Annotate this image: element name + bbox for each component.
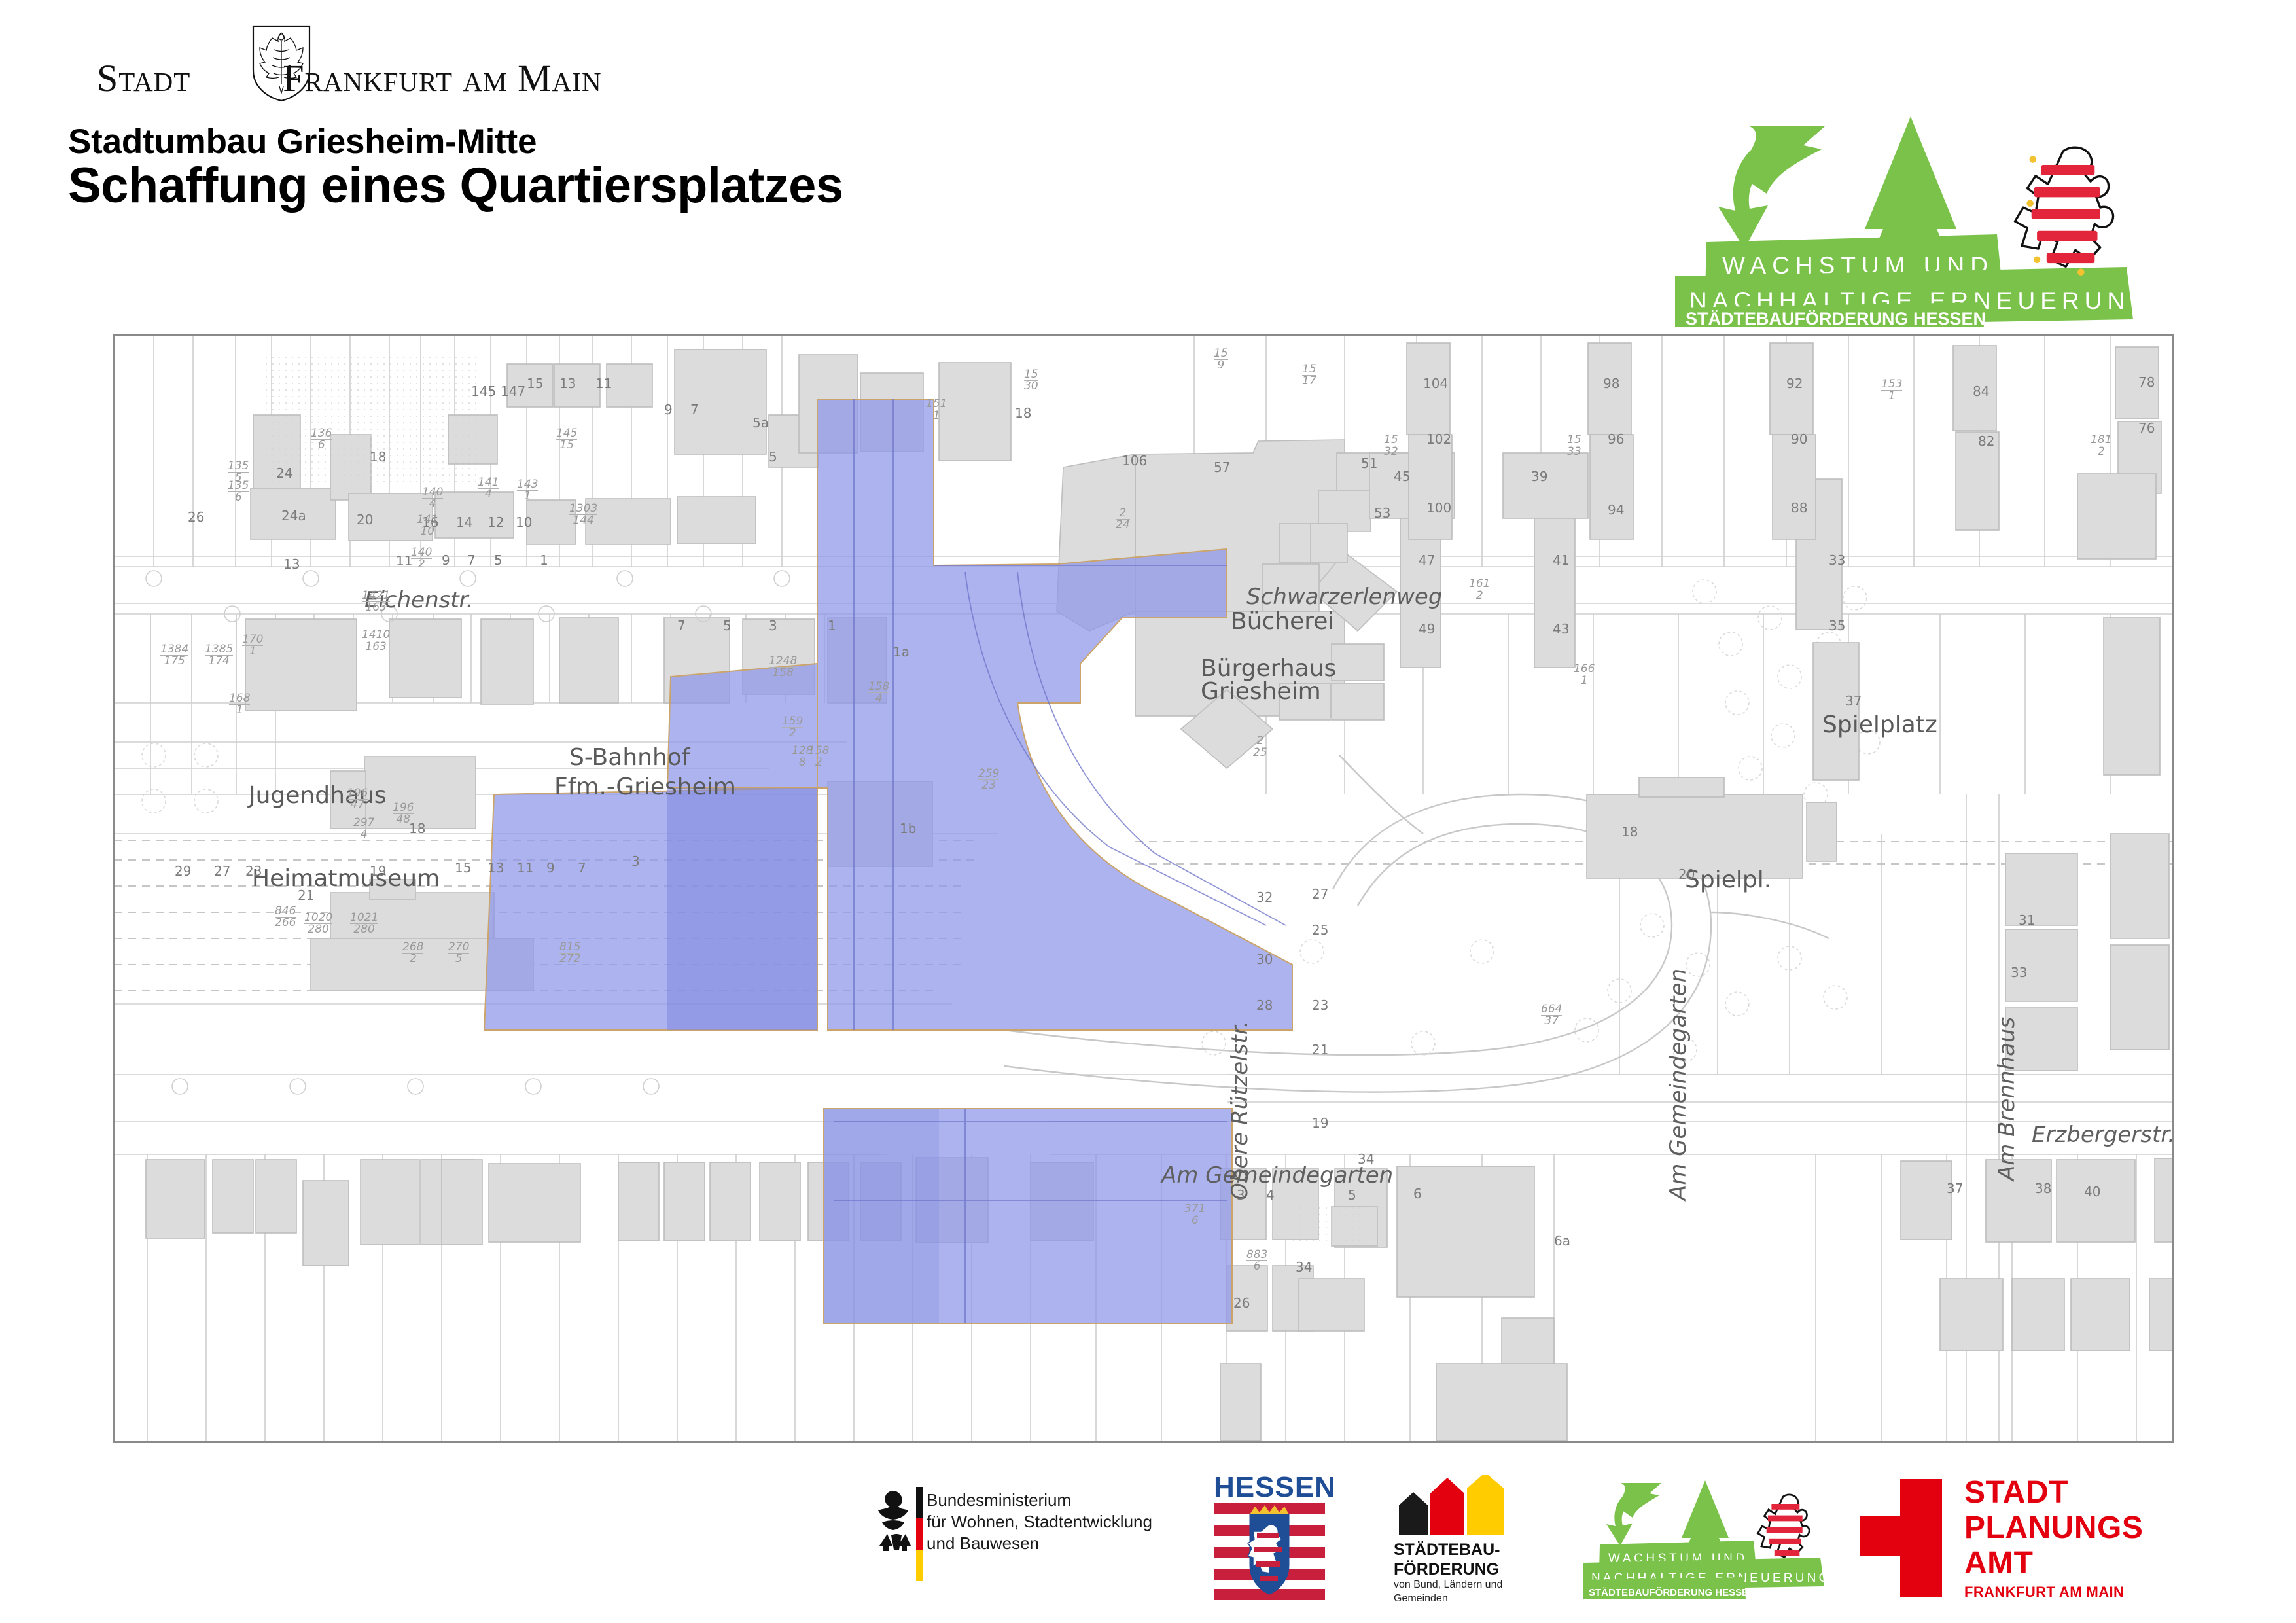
map-house-number: 92 [1786,376,1803,391]
map-house-number: 38 [2035,1181,2051,1196]
map-house-number: 13 [283,556,300,572]
map-house-number: 25 [1312,922,1328,938]
map-house-number: 35 [1829,618,1845,633]
city-logo-word-frankfurt: Frankfurt am Main [283,57,601,99]
map-house-number: 14 [456,514,472,530]
map-house-number: 6 [1413,1186,1422,1202]
map-parcel-number: 1385174 [205,644,233,667]
map-house-number: 15 [527,376,543,391]
hessen-lion-icon [2015,147,2113,276]
map-house-number: 39 [1531,469,1547,484]
map-parcel-number: 2705 [448,942,469,965]
map-house-number: 9 [664,402,673,418]
bmwsb-logo: Bundesministerium für Wohnen, Stadtentwi… [870,1484,1210,1596]
map-parcel-number: 14110 [417,514,438,537]
map-parcel-number: 1021280 [350,912,378,935]
map-parcel-number: 1248158 [769,656,797,679]
map-parcel-number: 815272 [559,942,580,965]
map-parcel-number: 1402 [411,547,432,570]
map-house-number: 7 [467,552,476,568]
map-house-number: 7 [690,402,699,418]
map-parcel-number: 1701 [242,634,263,657]
map-house-number: 1 [540,552,548,568]
map-house-number: 9 [546,860,555,876]
map-house-number: 94 [1608,502,1624,518]
map-house-number: 7 [677,618,686,633]
map-house-number: 1b [900,821,916,836]
map-street-label: Schwarzerlenweg [1246,584,1442,610]
map-poi-label: S-Bahnhof [569,744,690,771]
page-subtitle: Stadtumbau Griesheim-Mitte [68,122,537,162]
spa-line4: FRANKFURT AM MAIN [1964,1584,2124,1601]
spa-line1: STADT [1964,1475,2143,1510]
map-house-number: 40 [2084,1184,2100,1200]
hessen-logo: HESSEN [1214,1471,1332,1602]
map-parcel-number: 1421163 [362,590,390,613]
city-of-frankfurt-logo: Stadt Frankfurt am Main [97,34,516,106]
bundesadler-icon [870,1484,923,1582]
map-house-number: 23 [245,863,262,879]
map-parcel-number: 1517 [1302,364,1316,387]
map-house-number: 43 [1553,621,1569,637]
map-parcel-number: 1530 [1024,369,1038,392]
map-house-number: 21 [298,887,314,903]
map-house-number: 18 [370,449,386,465]
svg-text:STÄDTEBAUFÖRDERUNG HESSEN: STÄDTEBAUFÖRDERUNG HESSEN [1589,1587,1756,1598]
map-house-number: 18 [1015,405,1031,421]
map-house-number: 4 [1266,1187,1275,1203]
cadastral-map[interactable]: Eichenstr.SchwarzerlenwegErzbergerstr.Am… [113,334,2174,1443]
map-house-number: 3 [631,853,640,869]
map-parcel-number: 225 [1253,736,1267,758]
hessen-lion-small-icon [1758,1495,1810,1557]
map-house-number: 5 [494,552,503,568]
map-house-number: 37 [1845,693,1862,709]
bmwsb-line2: für Wohnen, Stadtentwicklung [927,1511,1152,1533]
map-parcel-number: 1431 [517,479,538,502]
map-house-number: 6a [1554,1233,1570,1249]
map-house-number: 145 [471,383,496,399]
map-parcel-number: 1531 [1881,379,1902,402]
map-parcel-number: 1288 [792,745,813,768]
map-parcel-number: 846266 [275,906,296,929]
map-parcel-number: 1303144 [569,503,597,526]
map-house-number: 47 [1419,552,1435,568]
map-house-number: 5a [752,415,769,431]
bmwsb-line3: und Bauwesen [927,1533,1152,1554]
map-parcel-number: 1533 [1567,435,1581,457]
map-street-label: Am Brennhaus [1994,1017,2020,1181]
map-house-number: 34 [1358,1151,1374,1167]
map-parcel-number: 1612 [1469,579,1490,601]
map-house-number: 30 [1256,952,1273,967]
map-house-number: 23 [1312,997,1328,1013]
map-street-label: Obere Rützelstr. [1227,1021,1253,1200]
map-parcel-number: 1020280 [304,912,332,935]
svg-text:STÄDTEBAUFÖRDERUNG HESSEN: STÄDTEBAUFÖRDERUNG HESSEN [1686,309,1986,327]
map-house-number: 33 [2011,965,2027,980]
map-house-number: 96 [1608,431,1624,447]
stadtplanungsamt-title: STADT PLANUNGS AMT [1964,1475,2143,1580]
staedtebau-title: STÄDTEBAU- FÖRDERUNG [1394,1541,1500,1579]
map-parcel-number: 1584 [868,681,889,704]
map-house-number: 76 [2138,420,2155,436]
map-street-label: Erzbergerstr. [2032,1122,2174,1148]
map-house-number: 49 [1419,621,1435,637]
map-parcel-number: 1366 [311,428,332,451]
map-parcel-number: 1681 [229,693,250,716]
program-logo-wachstum-nachhaltige-erneuerung: WACHSTUM UND NACHHALTIGE ERNEUERUNG STÄD… [1675,111,2218,327]
map-house-number: 20 [357,512,373,527]
map-parcel-number: 66437 [1541,1004,1562,1027]
map-house-number: 82 [1978,433,1994,449]
city-logo-word-stadt-first: Stadt [97,57,190,99]
bmwsb-line1: Bundesministerium [927,1489,1152,1511]
map-house-number: 53 [1374,505,1390,521]
map-parcel-number: 1384175 [160,644,188,667]
map-house-number: 28 [1256,997,1273,1013]
map-house-number: 1a [893,644,910,660]
map-house-number: 13 [487,860,504,876]
map-house-number: 24a [281,508,306,524]
map-house-number: 3 [1237,1187,1245,1203]
map-parcel-number: 1414 [478,477,499,500]
map-house-number: 106 [1122,453,1147,469]
staedtebau-line1: STÄDTEBAU- [1394,1541,1500,1560]
staedtebau-line3: von Bund, Ländern und [1394,1578,1502,1592]
map-house-number: 34 [1296,1259,1312,1275]
map-house-number: 27 [1312,886,1328,902]
map-street-label: Am Gemeindegarten [1665,969,1691,1200]
map-parcel-number: 159 [1214,348,1228,371]
hessen-label: HESSEN [1214,1471,1336,1504]
map-parcel-number: 1661 [1574,664,1595,687]
map-house-number: 27 [214,863,230,879]
map-parcel-number: 1356 [228,480,249,503]
map-house-number: 11 [517,860,533,876]
map-house-number: 78 [2138,374,2155,390]
map-house-number: 24 [276,465,292,481]
map-parcel-number: 19647 [347,788,368,811]
staedtebau-line2: FÖRDERUNG [1394,1560,1500,1580]
page-header: Stadt Frankfurt am Main Stadtumbau Gries… [0,0,2296,314]
map-house-number: 84 [1973,383,1989,399]
page-title: Schaffung eines Quartiersplatzes [68,157,843,214]
stadtplanungsamt-logo: STADT PLANUNGS AMT FRANKFURT AM MAIN [1849,1475,2216,1603]
staedtebaufoerderung-logo: STÄDTEBAU- FÖRDERUNG von Bund, Ländern u… [1394,1475,1564,1606]
staedtebau-houses-icon [1394,1475,1511,1535]
hessen-coat-of-arms-icon [1214,1503,1325,1601]
map-house-number: 10 [516,514,532,530]
map-house-number: 3 [769,618,777,633]
map-house-number: 102 [1426,431,1451,447]
map-house-number: 5 [769,449,777,465]
map-house-number: 11 [396,553,412,569]
map-parcel-number: 3716 [1184,1204,1205,1226]
map-house-number: 19 [1312,1115,1328,1131]
map-parcel-number: 25923 [978,768,999,791]
map-house-number: 21 [1312,1042,1328,1058]
map-house-number: 1 [828,618,836,633]
map-poi-label: Spielplatz [1822,711,1937,738]
map-parcel-number: 1812 [2091,435,2111,457]
map-poi-label: Ffm.-Griesheim [554,774,736,800]
map-parcel-number: 14515 [556,428,577,451]
map-parcel-number: 1410163 [362,630,390,652]
map-house-number: 147 [501,383,525,399]
spa-line3: AMT [1964,1546,2143,1581]
map-house-number: 5 [723,618,732,633]
map-house-number: 90 [1791,431,1807,447]
map-parcel-number: 2974 [353,817,374,840]
map-house-number: 18 [1621,824,1638,840]
city-logo-wordmark: Stadt Frankfurt am Main [97,56,516,102]
map-parcel-number: 1511 [926,399,947,421]
map-house-number: 57 [1214,459,1230,475]
map-house-number: 26 [188,509,204,525]
map-parcel-number: 1404 [422,487,443,510]
map-poi-label: Heimatmuseum [252,865,440,892]
map-house-number: 31 [2019,912,2035,928]
map-house-number: 33 [1829,552,1845,568]
staedtebau-line4: Gemeinden [1394,1592,1502,1606]
map-house-number: 5 [1348,1187,1356,1203]
map-house-number: 32 [1256,889,1273,905]
map-poi-label: Spielpl. [1685,866,1771,893]
map-parcel-number: 224 [1116,508,1130,531]
map-poi-label: Griesheim [1201,678,1321,705]
map-parcel-number: 1532 [1384,435,1398,457]
map-house-number: 88 [1791,500,1807,516]
map-poi-label: Bücherei [1231,608,1334,635]
map-house-number: 100 [1426,500,1451,516]
bmwsb-text: Bundesministerium für Wohnen, Stadtentwi… [927,1489,1152,1554]
map-house-number: 19 [370,863,386,879]
map-house-number: 29 [175,863,191,879]
wachstum-footer-logo: WACHSTUM UND NACHHALTIGE ERNEUERUNG STÄD… [1583,1475,1858,1599]
map-house-number: 104 [1423,376,1448,391]
map-house-number: 45 [1394,469,1410,484]
map-parcel-number: 19648 [393,802,414,825]
map-house-number: 12 [487,514,504,530]
map-house-number: 37 [1947,1181,1963,1196]
map-parcel-number: 8836 [1246,1249,1267,1272]
map-house-number: 7 [578,860,586,876]
map-house-number: 11 [595,376,612,391]
map-house-number: 20 [1678,866,1695,882]
map-house-number: 9 [442,552,450,568]
map-parcel-number: 1592 [782,716,803,739]
spa-line2: PLANUNGS [1964,1510,2143,1546]
map-house-number: 15 [455,860,471,876]
map-house-number: 51 [1361,455,1377,471]
map-house-number: 98 [1603,376,1619,391]
map-house-number: 26 [1233,1295,1250,1311]
map-house-number: 13 [559,376,576,391]
map-parcel-number: 2682 [402,942,423,965]
staedtebau-sub: von Bund, Ländern und Gemeinden [1394,1578,1502,1606]
map-house-number: 41 [1553,552,1569,568]
page-footer: Bundesministerium für Wohnen, Stadtentwi… [0,1466,2296,1623]
